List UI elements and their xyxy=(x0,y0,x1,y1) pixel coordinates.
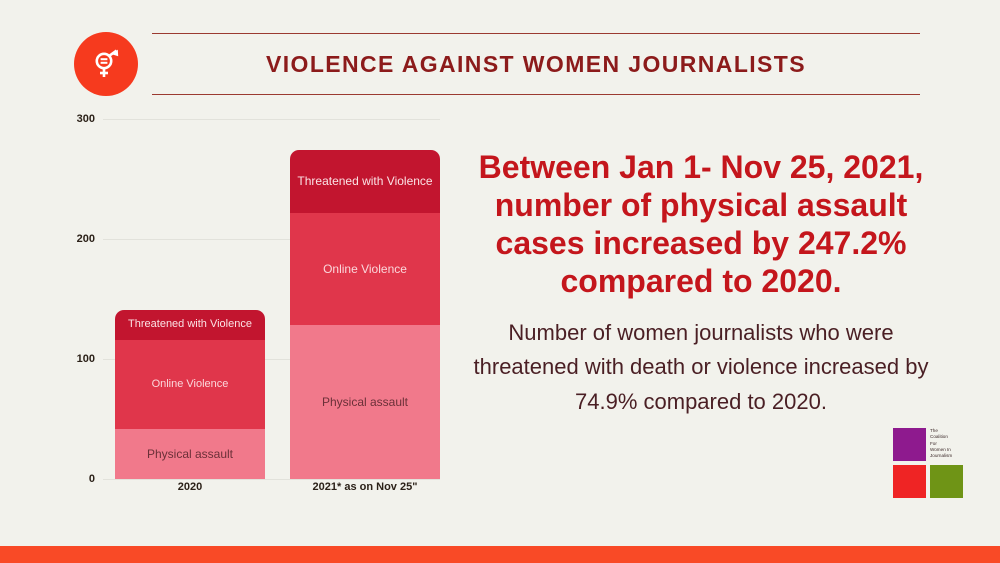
logo-square-green xyxy=(930,465,963,498)
title-container: VIOLENCE AGAINST WOMEN JOURNALISTS xyxy=(152,33,920,95)
bar-segment-label: Threatened with Violence xyxy=(297,174,432,188)
header: VIOLENCE AGAINST WOMEN JOURNALISTS xyxy=(0,0,1000,112)
logo-wordmark: The Coalition For Women In Journalism xyxy=(930,428,966,461)
callout-block: Between Jan 1- Nov 25, 2021, number of p… xyxy=(462,148,940,419)
x-axis-tick-label: 2020 xyxy=(115,481,265,493)
callout-headline: Between Jan 1- Nov 25, 2021, number of p… xyxy=(462,148,940,300)
y-axis-tick-label: 200 xyxy=(35,233,95,245)
bar-segment[interactable]: Threatened with Violence xyxy=(290,150,440,212)
bar-segment-label: Threatened with Violence xyxy=(128,318,252,331)
logo-square-purple xyxy=(893,428,926,461)
bar-segment[interactable]: Physical assault xyxy=(290,325,440,479)
gender-equality-icon xyxy=(74,32,138,96)
bar-2020[interactable]: Physical assaultOnline ViolenceThreatene… xyxy=(115,310,265,479)
page-title: VIOLENCE AGAINST WOMEN JOURNALISTS xyxy=(152,33,920,95)
y-axis-tick-label: 100 xyxy=(35,353,95,365)
bar-segment[interactable]: Physical assault xyxy=(115,429,265,479)
bar-segment-label: Online Violence xyxy=(323,262,407,276)
bar-segment-label: Physical assault xyxy=(147,447,233,461)
title-rule-bottom xyxy=(152,94,920,95)
coalition-logo: The Coalition For Women In Journalism xyxy=(893,428,965,500)
footer-accent-bar xyxy=(0,546,1000,563)
logo-line-5: Journalism xyxy=(930,453,966,459)
callout-subline: Number of women journalists who were thr… xyxy=(462,300,940,418)
x-axis-tick-label: 2021* as on Nov 25" xyxy=(290,481,440,493)
stacked-bar-chart: Physical assaultOnline ViolenceThreatene… xyxy=(0,105,460,505)
y-axis-tick-label: 300 xyxy=(35,113,95,125)
y-axis-tick-label: 0 xyxy=(35,473,95,485)
bar-segment[interactable]: Threatened with Violence xyxy=(115,310,265,340)
bar-segment[interactable]: Online Violence xyxy=(290,213,440,326)
bar-segment[interactable]: Online Violence xyxy=(115,340,265,429)
gridline xyxy=(103,479,440,480)
chart-plot-area: Physical assaultOnline ViolenceThreatene… xyxy=(103,119,440,479)
bar-segment-label: Physical assault xyxy=(322,395,408,409)
logo-square-red xyxy=(893,465,926,498)
bar-segment-label: Online Violence xyxy=(152,378,229,391)
gridline xyxy=(103,119,440,120)
bar-2021[interactable]: Physical assaultOnline ViolenceThreatene… xyxy=(290,150,440,479)
